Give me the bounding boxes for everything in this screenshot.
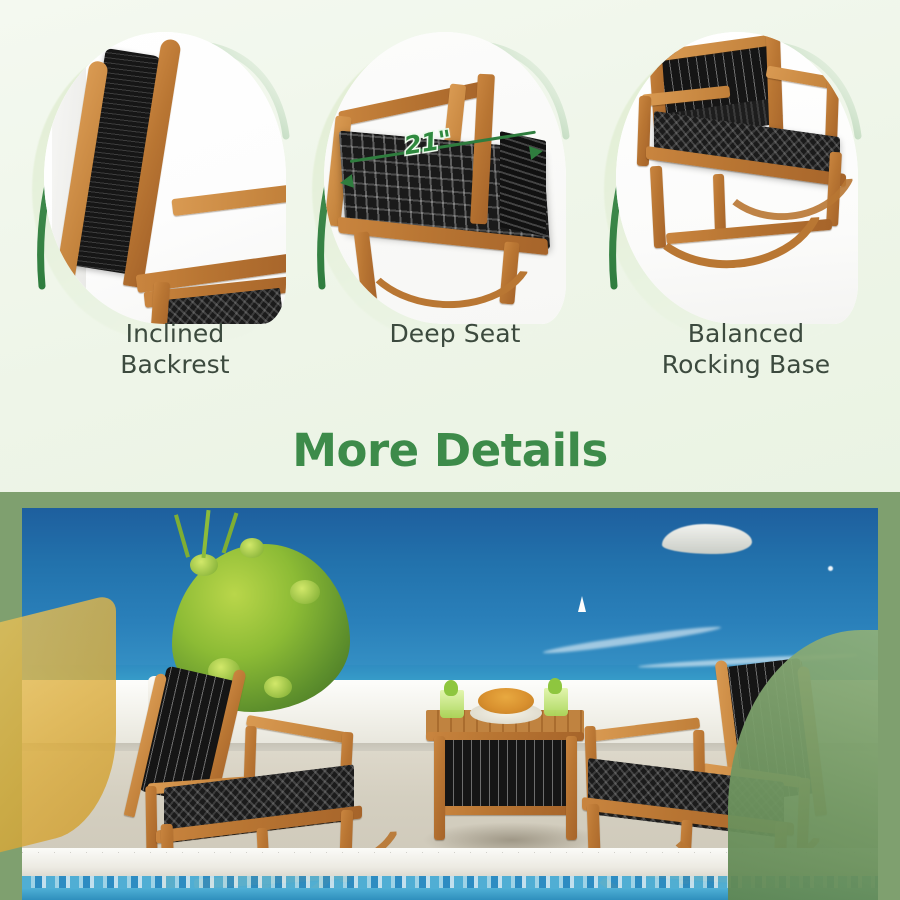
feature-image-deep-seat: 21" [324, 32, 566, 324]
sailboat-icon [578, 596, 586, 612]
feature-label-1: Inclined Backrest [60, 318, 290, 380]
feature-label-3-line1: Balanced [628, 318, 864, 349]
feature-label-3-line2: Rocking Base [628, 349, 864, 380]
armrest-right [246, 715, 352, 744]
outdoor-scene [22, 508, 878, 900]
feature-label-1-line2: Backrest [60, 349, 290, 380]
section-heading: More Details [0, 424, 900, 477]
bush-leaf [290, 580, 320, 604]
features-section: Inclined Backrest [0, 0, 900, 492]
measurement-arrow-head-right [529, 144, 544, 160]
feature-image-rocking-base [616, 32, 858, 324]
table-rope-panel [440, 740, 570, 808]
feature-label-2: Deep Seat [340, 318, 570, 349]
feature-image-inclined-backrest [44, 32, 286, 324]
feature-label-2-line1: Deep Seat [340, 318, 570, 349]
food-bowl [478, 688, 534, 714]
measurement-arrow-head-left [339, 174, 354, 190]
garnish-right [548, 678, 562, 694]
feature-label-3: Balanced Rocking Base [628, 318, 864, 380]
feature-label-1-line1: Inclined [60, 318, 290, 349]
distant-boat-dot [828, 566, 833, 571]
product-infographic: Inclined Backrest [0, 0, 900, 900]
bush-leaf [240, 538, 264, 558]
lifestyle-section [0, 492, 900, 900]
garnish-left [444, 680, 458, 696]
armrest-left [590, 717, 701, 741]
lifestyle-photo [22, 508, 878, 900]
rocky-islet [662, 524, 752, 554]
